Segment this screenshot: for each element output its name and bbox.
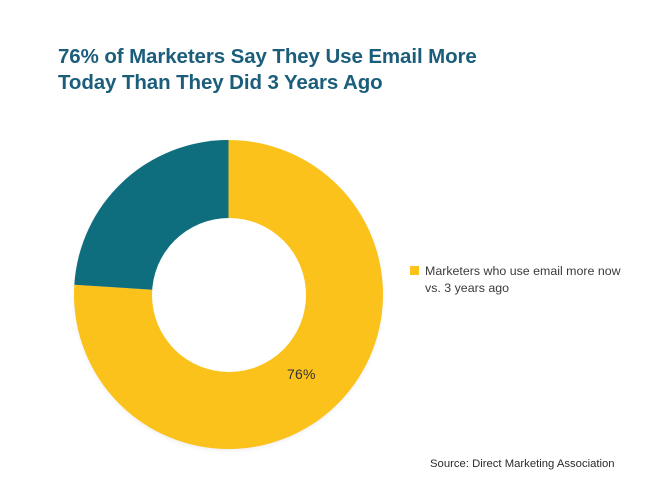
slice-data-label-0: 76% <box>287 366 316 382</box>
page-title: 76% of Marketers Say They Use Email More… <box>58 44 588 96</box>
chart-legend: Marketers who use email more now vs. 3 y… <box>410 263 638 297</box>
donut-center-hole <box>152 218 306 372</box>
legend-item-label: Marketers who use email more now vs. 3 y… <box>425 263 638 297</box>
square-swatch-icon <box>410 266 419 275</box>
legend-item-0[interactable]: Marketers who use email more now vs. 3 y… <box>410 263 638 297</box>
source-note: Source: Direct Marketing Association <box>430 458 615 470</box>
chart-page: 76% of Marketers Say They Use Email More… <box>0 0 649 486</box>
donut-chart <box>74 140 383 449</box>
